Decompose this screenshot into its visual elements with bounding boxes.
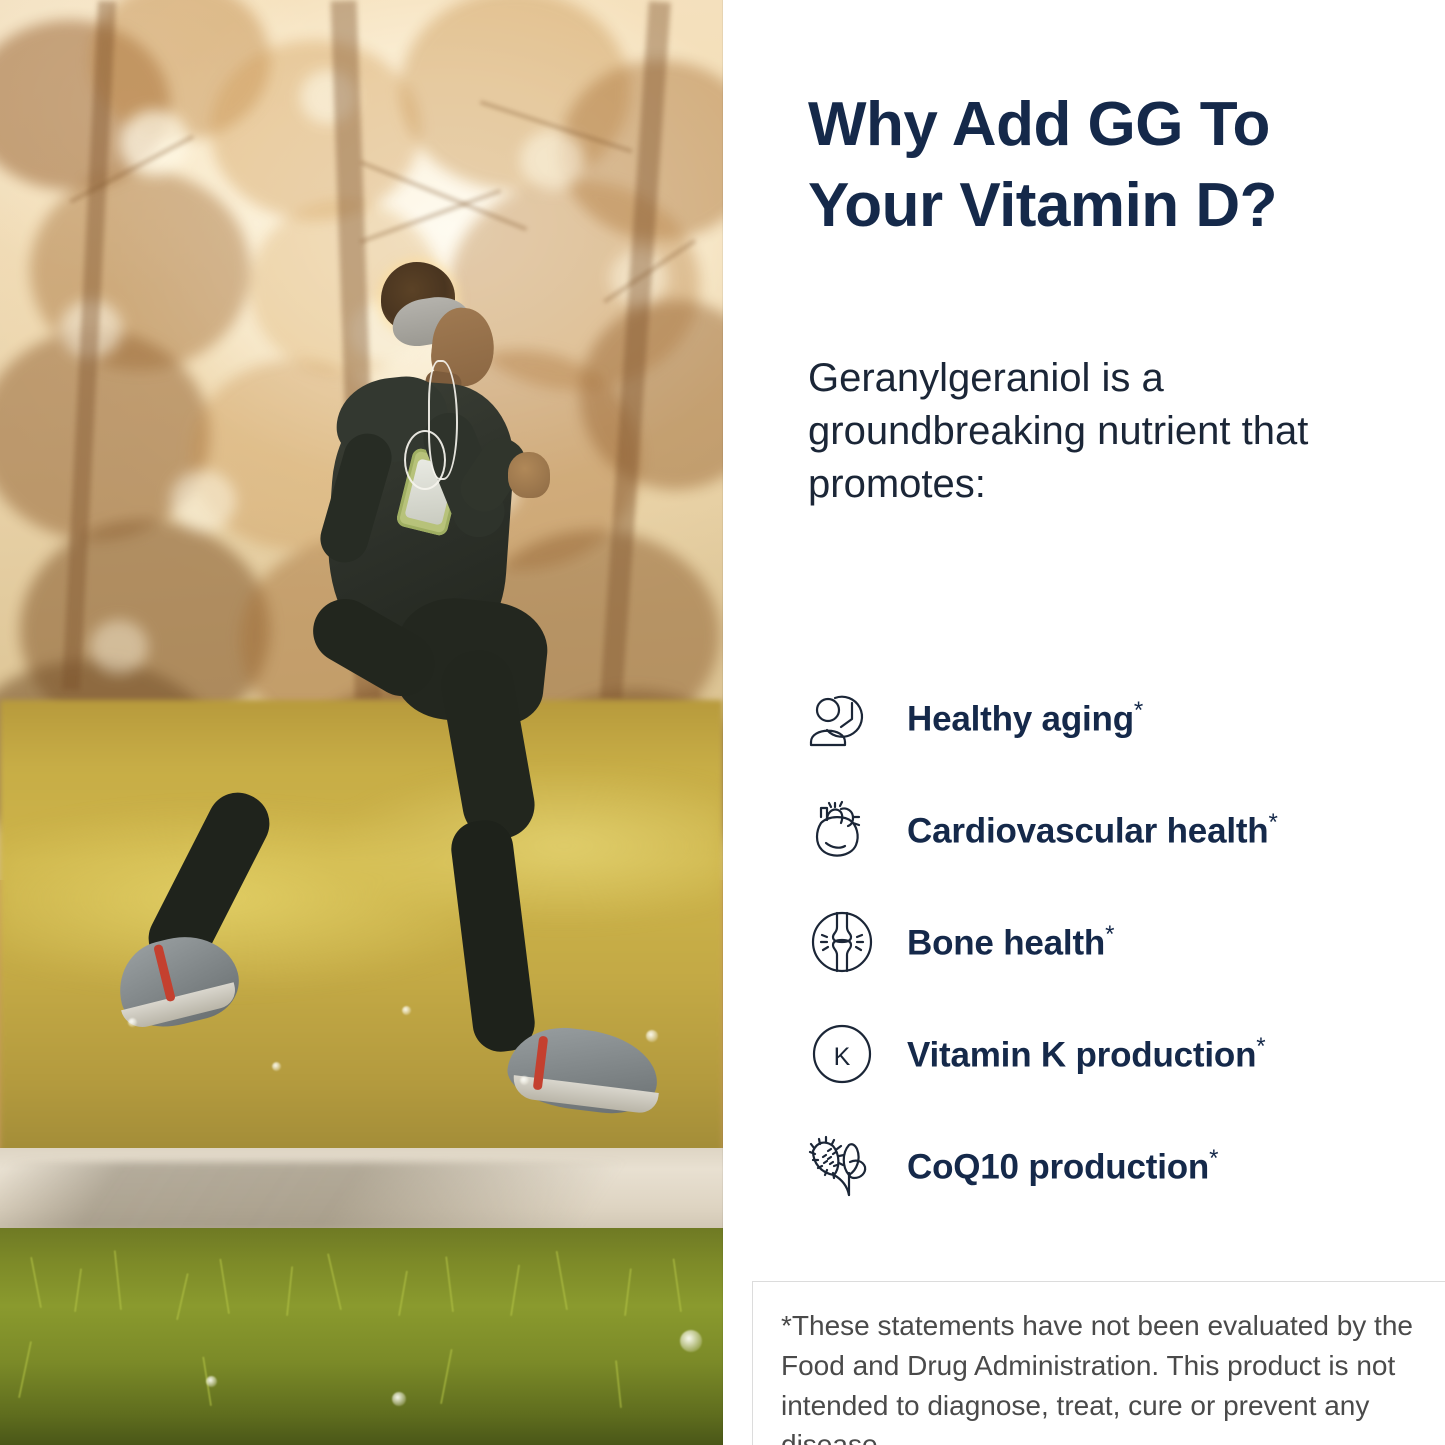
cardiovascular-health-icon — [805, 793, 879, 867]
asterisk-marker: * — [1134, 697, 1143, 724]
front-shin — [448, 817, 538, 1055]
benefit-label: Cardiovascular health* — [907, 809, 1278, 852]
hero-photo — [0, 0, 723, 1445]
benefit-item-coq10: CoQ10 production* — [805, 1110, 1425, 1222]
benefit-item-vitamin-k: K Vitamin K production* — [805, 998, 1425, 1110]
content-panel: Why Add GG To Your Vitamin D? Geranylger… — [723, 0, 1445, 1445]
benefit-label: CoQ10 production* — [907, 1145, 1218, 1188]
earphone-cord-loop — [404, 430, 446, 490]
front-hand — [508, 452, 550, 498]
benefit-item-healthy-aging: Healthy aging* — [805, 662, 1425, 774]
disclaimer-text: *These statements have not been evaluate… — [781, 1306, 1427, 1445]
benefit-item-cardiovascular-health: Cardiovascular health* — [805, 774, 1425, 886]
page-title: Why Add GG To Your Vitamin D? — [808, 85, 1368, 246]
benefit-label: Vitamin K production* — [907, 1033, 1265, 1076]
vitamin-k-letter: K — [834, 1043, 851, 1071]
path-shadow — [0, 1162, 647, 1232]
asterisk-marker: * — [1256, 1033, 1265, 1060]
benefit-text: Healthy aging — [907, 699, 1134, 738]
benefit-label: Bone health* — [907, 921, 1114, 964]
asterisk-marker: * — [1209, 1145, 1218, 1172]
foreground-grass — [0, 1228, 723, 1445]
benefit-item-bone-health: Bone health* — [805, 886, 1425, 998]
product-benefits-infographic: Why Add GG To Your Vitamin D? Geranylger… — [0, 0, 1445, 1445]
healthy-aging-icon — [805, 681, 879, 755]
benefit-text: CoQ10 production — [907, 1147, 1209, 1186]
asterisk-marker: * — [1269, 809, 1278, 836]
bone-health-icon — [805, 905, 879, 979]
coq10-icon — [805, 1129, 879, 1203]
disclaimer-box: *These statements have not been evaluate… — [752, 1281, 1445, 1445]
benefit-text: Bone health — [907, 923, 1105, 962]
benefit-text: Cardiovascular health — [907, 811, 1269, 850]
photo-canvas — [0, 0, 723, 1445]
benefit-label: Healthy aging* — [907, 697, 1143, 740]
subtitle: Geranylgeraniol is a groundbreaking nutr… — [808, 352, 1368, 510]
vitamin-k-icon: K — [805, 1017, 879, 1091]
benefit-text: Vitamin K production — [907, 1035, 1256, 1074]
benefits-list: Healthy aging* Cardiovascular health* — [805, 662, 1425, 1222]
asterisk-marker: * — [1105, 921, 1114, 948]
